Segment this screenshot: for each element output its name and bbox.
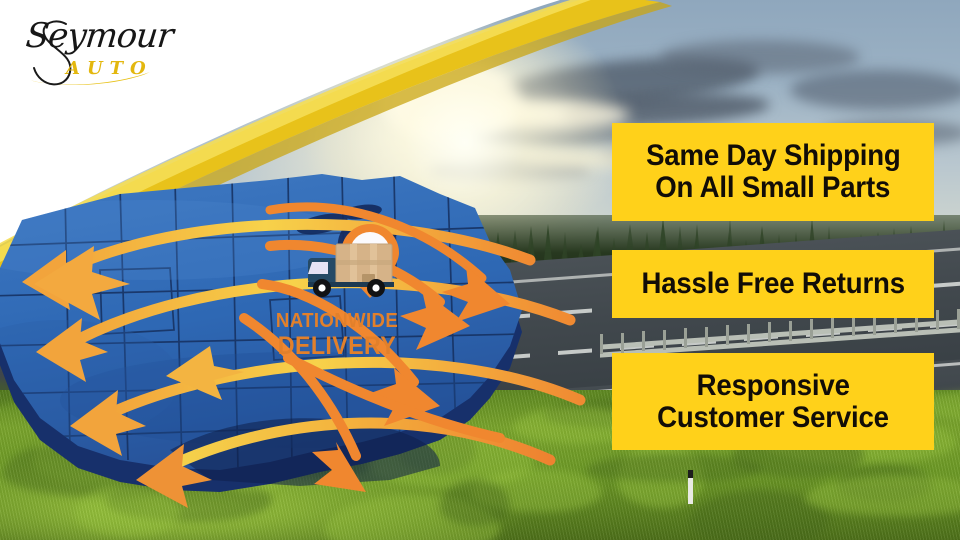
panel2-line1: Hassle Free Returns <box>641 268 904 300</box>
seymour-auto-logo[interactable]: Seymour AUTO <box>22 14 202 94</box>
panel1-line2: On All Small Parts <box>656 172 891 204</box>
promo-banner: NATIONWIDE DELIVERY Same Day Shipping On… <box>0 0 960 540</box>
feature-panel-responsive-customer-service[interactable]: Responsive Customer Service <box>612 353 934 450</box>
panel1-line1: Same Day Shipping <box>646 140 901 172</box>
feature-panel-hassle-free-returns[interactable]: Hassle Free Returns <box>612 250 934 318</box>
nationwide-delivery-badge: NATIONWIDE DELIVERY <box>262 222 412 370</box>
panel3-line2: Customer Service <box>657 402 889 434</box>
panel3-line1: Responsive <box>696 370 849 402</box>
roadside-marker-post <box>688 470 693 504</box>
badge-caption-bottom: DELIVERY <box>267 332 407 361</box>
delivery-truck-icon <box>308 244 394 297</box>
feature-panel-same-day-shipping[interactable]: Same Day Shipping On All Small Parts <box>612 123 934 221</box>
badge-caption-top: NATIONWIDE <box>267 310 407 333</box>
logo-wordmark: Seymour <box>24 16 175 56</box>
logo-subtext: AUTO <box>66 58 153 79</box>
